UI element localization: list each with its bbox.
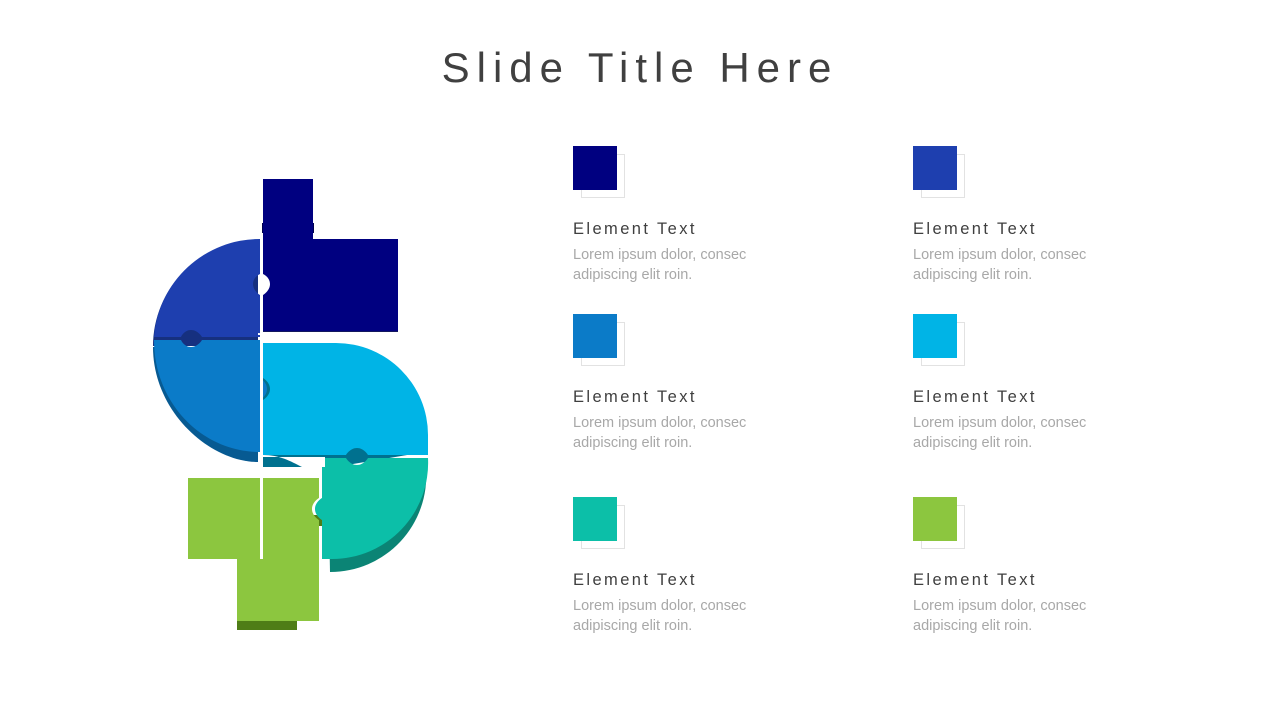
dollar-sign-puzzle-graphic xyxy=(150,165,450,645)
color-swatch-cyan xyxy=(913,314,957,358)
slide-canvas: Slide Title Here xyxy=(0,0,1280,720)
element-title-6: Element Text xyxy=(913,571,1180,590)
swatch-box-6 xyxy=(913,497,965,549)
color-swatch-teal xyxy=(573,497,617,541)
swatch-box-2 xyxy=(913,146,965,198)
swatch-box-4 xyxy=(913,314,965,366)
element-title-2: Element Text xyxy=(913,220,1180,239)
element-body-6: Lorem ipsum dolor, consec adipiscing eli… xyxy=(913,597,1128,636)
puzzle-piece-green xyxy=(188,478,319,621)
swatch-box-1 xyxy=(573,146,625,198)
puzzle-piece-royal-blue xyxy=(154,239,260,337)
element-body-4: Lorem ipsum dolor, consec adipiscing eli… xyxy=(913,414,1128,453)
swatch-box-3 xyxy=(573,314,625,366)
element-body-1: Lorem ipsum dolor, consec adipiscing eli… xyxy=(573,246,788,285)
element-title-5: Element Text xyxy=(573,571,900,590)
element-item-5[interactable]: Element Text Lorem ipsum dolor, consec a… xyxy=(560,497,900,637)
puzzle-piece-teal xyxy=(315,458,428,559)
puzzle-piece-azure xyxy=(154,340,267,452)
element-item-6[interactable]: Element Text Lorem ipsum dolor, consec a… xyxy=(900,497,1180,637)
color-swatch-azure xyxy=(573,314,617,358)
element-item-2[interactable]: Element Text Lorem ipsum dolor, consec a… xyxy=(900,146,1180,314)
color-swatch-navy xyxy=(573,146,617,190)
elements-grid: Element Text Lorem ipsum dolor, consec a… xyxy=(560,146,1180,646)
element-title-3: Element Text xyxy=(573,388,900,407)
element-body-3: Lorem ipsum dolor, consec adipiscing eli… xyxy=(573,414,788,453)
puzzle-piece-navy xyxy=(263,179,398,331)
puzzle-piece-cyan xyxy=(263,343,428,455)
page-title: Slide Title Here xyxy=(0,44,1280,92)
color-swatch-green xyxy=(913,497,957,541)
element-item-4[interactable]: Element Text Lorem ipsum dolor, consec a… xyxy=(900,314,1180,497)
element-body-5: Lorem ipsum dolor, consec adipiscing eli… xyxy=(573,597,788,636)
puzzle-illustration xyxy=(150,165,450,645)
puzzle-center-seam xyxy=(260,239,263,559)
element-item-3[interactable]: Element Text Lorem ipsum dolor, consec a… xyxy=(560,314,900,497)
element-item-1[interactable]: Element Text Lorem ipsum dolor, consec a… xyxy=(560,146,900,314)
element-body-2: Lorem ipsum dolor, consec adipiscing eli… xyxy=(913,246,1128,285)
element-title-1: Element Text xyxy=(573,220,900,239)
element-title-4: Element Text xyxy=(913,388,1180,407)
swatch-box-5 xyxy=(573,497,625,549)
color-swatch-royal-blue xyxy=(913,146,957,190)
